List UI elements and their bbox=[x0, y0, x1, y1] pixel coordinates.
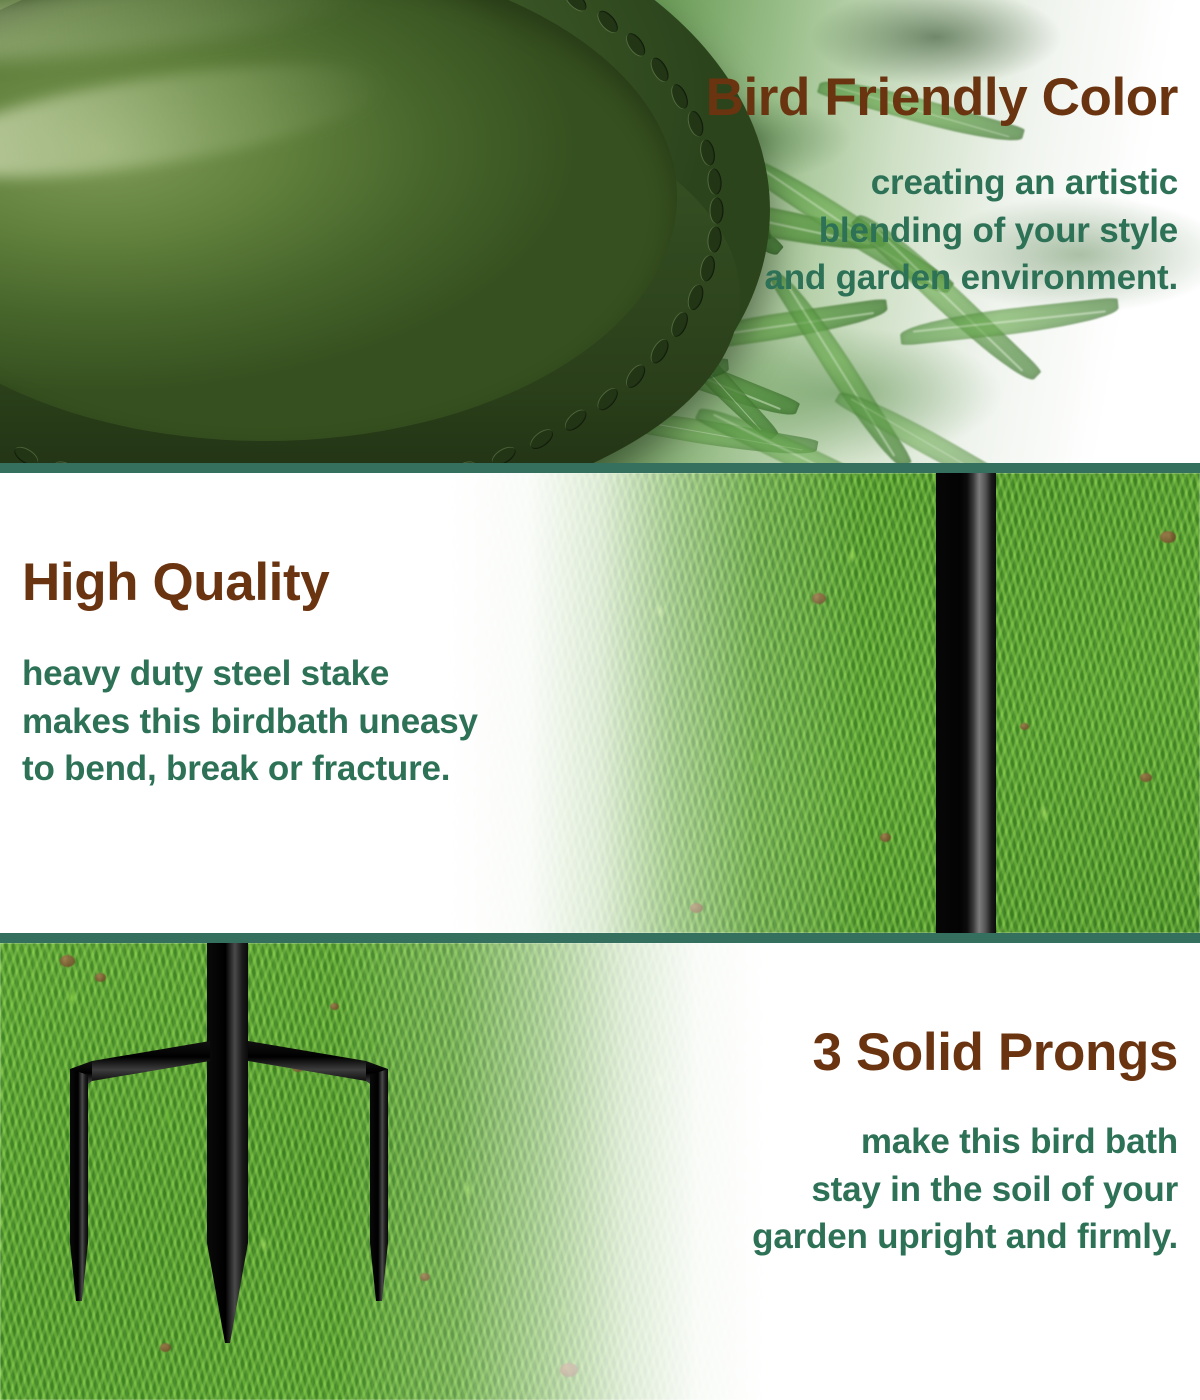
product-feature-infographic: Bird Friendly Color creating an artistic… bbox=[0, 0, 1200, 1400]
feature-text-bird-friendly-color: Bird Friendly Color creating an artistic… bbox=[706, 70, 1178, 302]
bowl-drain-hole bbox=[686, 109, 706, 138]
bowl-drain-hole bbox=[623, 362, 649, 391]
headline-high-quality: High Quality bbox=[22, 555, 478, 610]
body-line: to bend, break or fracture. bbox=[22, 745, 478, 793]
bowl-drain-hole bbox=[648, 337, 672, 366]
left-prong-spike bbox=[70, 1069, 88, 1301]
center-shaft bbox=[207, 943, 248, 1343]
body-three-prongs: make this bird bath stay in the soil of … bbox=[752, 1118, 1178, 1261]
body-line: make this bird bath bbox=[752, 1118, 1178, 1166]
body-bird-friendly-color: creating an artistic blending of your st… bbox=[706, 159, 1178, 302]
panel-bird-friendly-color: Bird Friendly Color creating an artistic… bbox=[0, 0, 1200, 463]
headline-three-prongs: 3 Solid Prongs bbox=[752, 1025, 1178, 1080]
body-line: blending of your style bbox=[706, 207, 1178, 255]
body-line: stay in the soil of your bbox=[752, 1166, 1178, 1214]
feature-text-high-quality: High Quality heavy duty steel stake make… bbox=[22, 555, 478, 793]
headline-bird-friendly-color: Bird Friendly Color bbox=[706, 70, 1178, 125]
feature-text-three-prongs: 3 Solid Prongs make this bird bath stay … bbox=[752, 1025, 1178, 1261]
bowl-drain-hole bbox=[648, 55, 672, 84]
body-line: heavy duty steel stake bbox=[22, 650, 478, 698]
steel-pole bbox=[936, 473, 996, 933]
bowl-drain-hole bbox=[686, 283, 706, 312]
panel-three-prongs: 3 Solid Prongs make this bird bath stay … bbox=[0, 943, 1200, 1400]
body-line: garden upright and firmly. bbox=[752, 1213, 1178, 1261]
bowl-drain-hole bbox=[563, 407, 591, 434]
bowl-drain-hole bbox=[623, 30, 649, 59]
panel-divider-two bbox=[0, 933, 1200, 943]
panel-high-quality: High Quality heavy duty steel stake make… bbox=[0, 473, 1200, 933]
body-high-quality: heavy duty steel stake makes this birdba… bbox=[22, 650, 478, 793]
bowl-drain-hole bbox=[0, 427, 3, 453]
body-line: makes this birdbath uneasy bbox=[22, 698, 478, 746]
right-prong-arm bbox=[248, 1041, 366, 1081]
bowl-drain-hole bbox=[490, 444, 519, 463]
right-prong-spike bbox=[370, 1069, 388, 1301]
bowl-drainage-holes bbox=[0, 0, 770, 463]
bowl-drain-hole bbox=[669, 310, 691, 339]
bowl-drain-hole bbox=[563, 0, 591, 14]
left-prong-arm bbox=[92, 1041, 210, 1081]
bowl-drain-hole bbox=[527, 427, 556, 453]
bowl-drain-hole bbox=[51, 459, 80, 463]
panel-divider-one bbox=[0, 463, 1200, 473]
body-line: creating an artistic bbox=[706, 159, 1178, 207]
birdbath-bowl bbox=[0, 0, 770, 463]
body-line: and garden environment. bbox=[706, 254, 1178, 302]
bowl-drain-hole bbox=[669, 82, 691, 111]
bowl-drain-hole bbox=[595, 7, 622, 35]
bowl-drain-hole bbox=[11, 444, 40, 463]
bowl-drain-hole bbox=[595, 385, 622, 413]
bowl-drain-hole bbox=[450, 459, 479, 463]
